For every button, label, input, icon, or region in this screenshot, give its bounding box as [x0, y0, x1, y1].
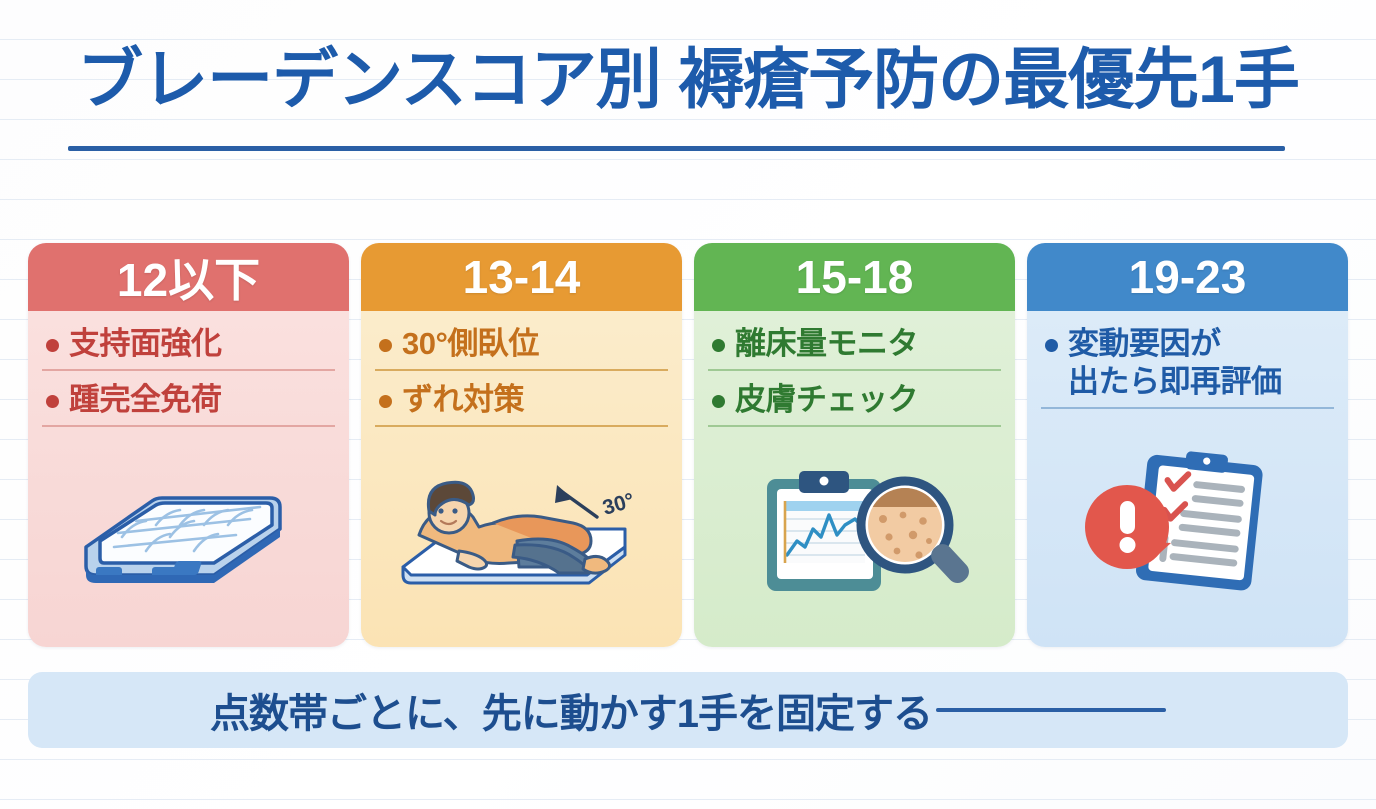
- list-item: 30°側臥位: [375, 323, 668, 371]
- bullet-dot-icon: [712, 339, 725, 352]
- bullet-dot-icon: [46, 395, 59, 408]
- bullet-label: 踵完全免荷: [69, 381, 222, 419]
- bullet-label: 30°側臥位: [402, 325, 539, 363]
- page-title: ブレーデンスコア別 褥瘡予防の最優先1手: [0, 46, 1376, 112]
- list-item: 踵完全免荷: [42, 379, 335, 427]
- bullet-label: 皮膚チェック: [735, 381, 918, 419]
- lateral-position-patient-icon: 30°: [375, 427, 668, 639]
- list-item: 変動要因が 出たら即再評価: [1041, 323, 1334, 409]
- card-body: 変動要因が 出たら即再評価: [1027, 311, 1348, 647]
- checklist-alert-icon: [1041, 409, 1334, 639]
- infographic-page: ブレーデンスコア別 褥瘡予防の最優先1手 12以下 支持面強化 踵完全免荷: [0, 0, 1376, 809]
- bullet-list: 離床量モニタ 皮膚チェック: [708, 323, 1001, 427]
- card-body: 支持面強化 踵完全免荷: [28, 311, 349, 647]
- bullet-list: 30°側臥位 ずれ対策: [375, 323, 668, 427]
- card-header-range: 19-23: [1027, 243, 1348, 311]
- title-underline: [68, 146, 1285, 151]
- bullet-list: 支持面強化 踵完全免荷: [42, 323, 335, 427]
- footer-content: 点数帯ごとに、先に動かす1手を固定する: [210, 681, 1166, 739]
- air-mattress-icon: [42, 427, 335, 639]
- bullet-line-1: 変動要因が: [1068, 326, 1221, 361]
- list-item: 離床量モニタ: [708, 323, 1001, 371]
- footer-banner: 点数帯ごとに、先に動かす1手を固定する: [28, 672, 1348, 748]
- title-block: ブレーデンスコア別 褥瘡予防の最優先1手: [0, 46, 1376, 112]
- list-item: 支持面強化: [42, 323, 335, 371]
- bullet-dot-icon: [712, 395, 725, 408]
- bullet-label: ずれ対策: [402, 381, 524, 419]
- card-header-range: 13-14: [361, 243, 682, 311]
- svg-text:30°: 30°: [600, 489, 637, 520]
- bullet-label: 変動要因が 出たら即再評価: [1068, 325, 1282, 401]
- bullet-dot-icon: [379, 395, 392, 408]
- score-card-13-14[interactable]: 13-14 30°側臥位 ずれ対策: [361, 243, 682, 647]
- bullet-line-2: 出たら即再評価: [1068, 364, 1282, 399]
- bullet-dot-icon: [379, 339, 392, 352]
- bullet-label: 離床量モニタ: [735, 325, 918, 363]
- bullet-dot-icon: [1045, 339, 1058, 352]
- bullet-list: 変動要因が 出たら即再評価: [1041, 323, 1334, 409]
- score-card-19-23[interactable]: 19-23 変動要因が 出たら即再評価: [1027, 243, 1348, 647]
- bullet-dot-icon: [46, 339, 59, 352]
- list-item: ずれ対策: [375, 379, 668, 427]
- score-card-row: 12以下 支持面強化 踵完全免荷: [28, 243, 1348, 647]
- score-card-12-or-less[interactable]: 12以下 支持面強化 踵完全免荷: [28, 243, 349, 647]
- footer-message: 点数帯ごとに、先に動かす1手を固定する: [210, 681, 932, 739]
- card-body: 離床量モニタ 皮膚チェック: [694, 311, 1015, 647]
- clipboard-chart-magnifier-icon: [708, 427, 1001, 639]
- footer-underline: [936, 708, 1166, 712]
- card-header-range: 15-18: [694, 243, 1015, 311]
- bullet-label: 支持面強化: [69, 325, 222, 363]
- list-item: 皮膚チェック: [708, 379, 1001, 427]
- score-card-15-18[interactable]: 15-18 離床量モニタ 皮膚チェック: [694, 243, 1015, 647]
- card-body: 30°側臥位 ずれ対策: [361, 311, 682, 647]
- card-header-range: 12以下: [28, 243, 349, 311]
